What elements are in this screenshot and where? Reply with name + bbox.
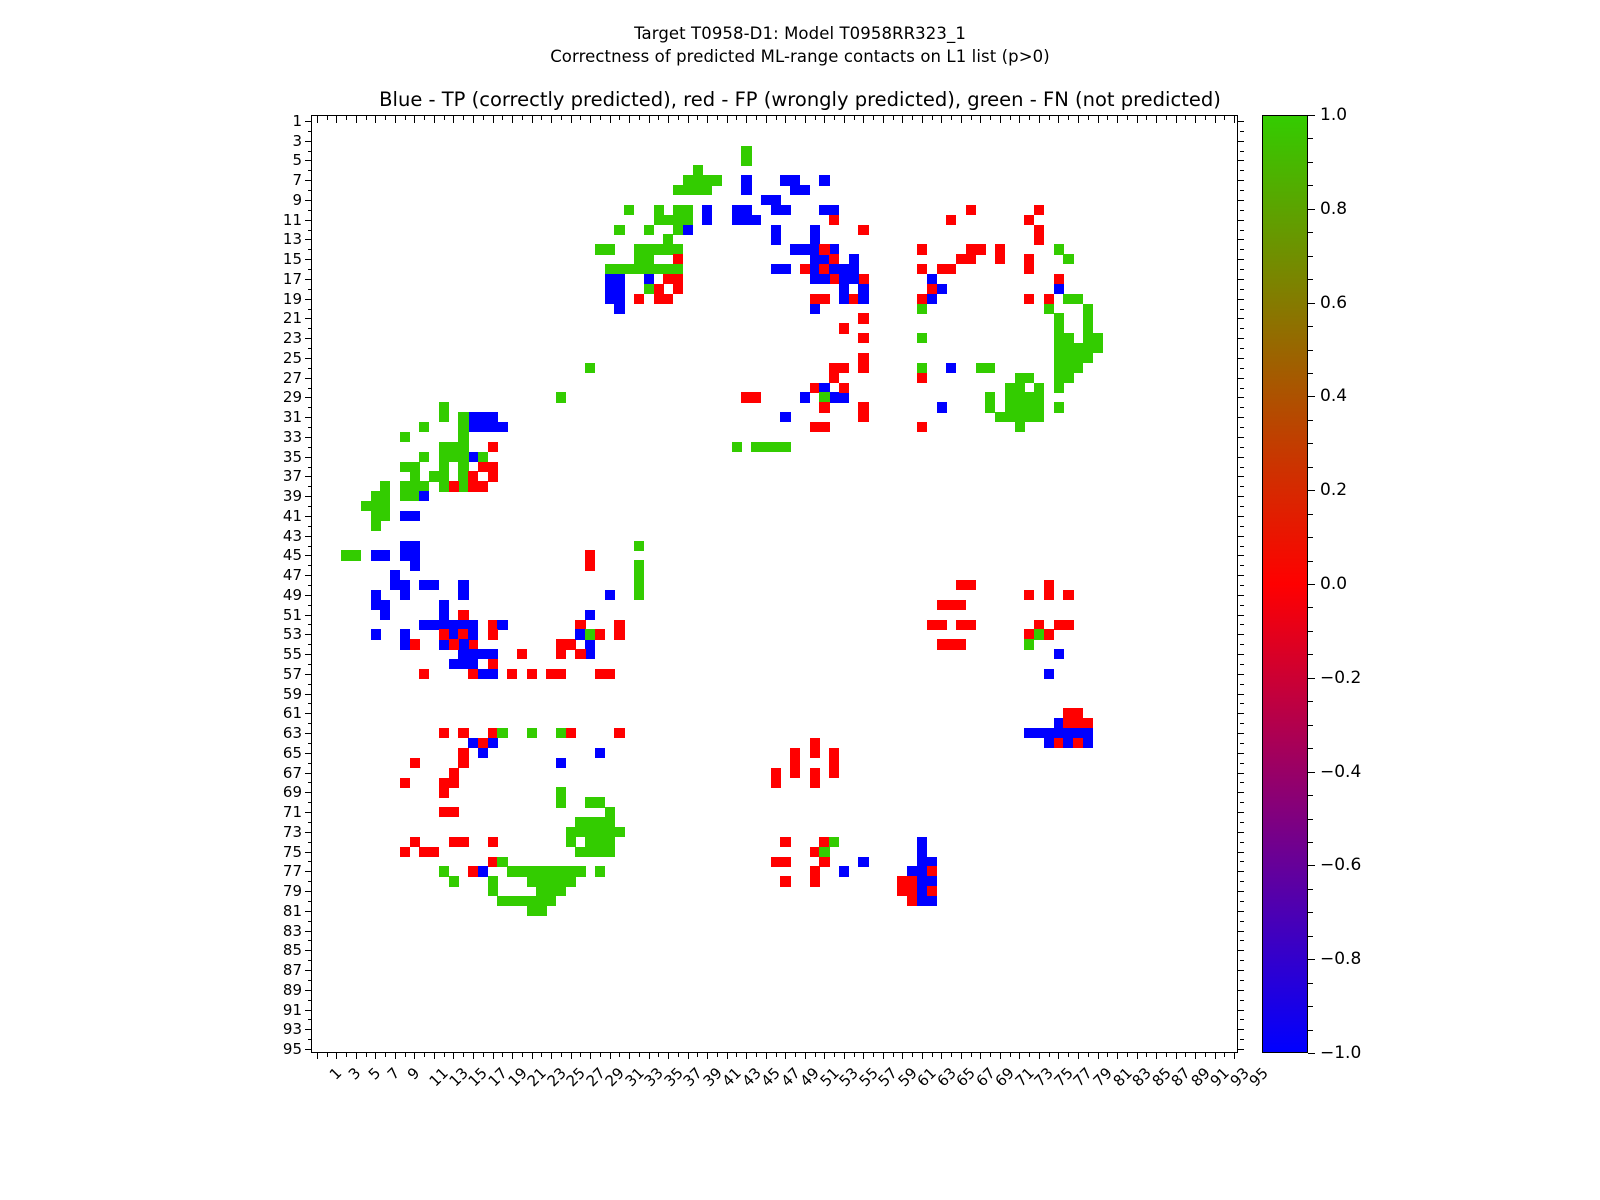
colorbar-tick <box>1308 584 1315 585</box>
contact-cell <box>400 550 410 560</box>
x-axis-tick-top <box>932 116 933 121</box>
contact-cell <box>527 876 537 886</box>
contact-cell <box>673 284 683 294</box>
contact-cell <box>488 738 498 748</box>
contact-cell <box>819 264 829 274</box>
x-axis-tick <box>844 1052 845 1059</box>
contact-cell <box>839 294 849 304</box>
y-axis-tick <box>308 782 313 783</box>
contact-cell <box>917 264 927 274</box>
contact-cell <box>1054 738 1064 748</box>
x-axis-tick-top <box>619 116 620 121</box>
contact-cell <box>927 896 937 906</box>
colorbar-tick <box>1308 959 1315 960</box>
colorbar-tick <box>1308 842 1313 843</box>
contact-cell <box>536 886 546 896</box>
contact-cell <box>800 392 810 402</box>
contact-cell <box>1024 264 1034 274</box>
x-axis-tick-top <box>678 116 679 121</box>
contact-cell <box>478 462 488 472</box>
contact-cell <box>458 452 468 462</box>
contact-cell <box>634 294 644 304</box>
contact-cell <box>819 857 829 867</box>
contact-cell <box>556 758 566 768</box>
contact-cell <box>810 383 820 393</box>
x-axis-tick <box>1107 1052 1108 1057</box>
y-axis-tick <box>305 674 312 675</box>
y-axis-tick <box>308 743 313 744</box>
contact-cell <box>673 274 683 284</box>
contact-cell <box>351 550 361 560</box>
y-axis-tick-right <box>1237 891 1244 892</box>
contact-cell <box>449 807 459 817</box>
contact-cell <box>956 620 966 630</box>
contact-cell <box>566 728 576 738</box>
x-axis-tick-top <box>1039 116 1040 123</box>
contact-cell <box>400 778 410 788</box>
contact-cell <box>527 906 537 916</box>
y-axis-tick <box>305 457 312 458</box>
contact-cell <box>771 778 781 788</box>
contact-cell <box>702 175 712 185</box>
y-axis-tick <box>305 753 312 754</box>
x-axis-tick <box>1156 1052 1157 1059</box>
contact-cell <box>556 866 566 876</box>
colorbar-tick <box>1308 631 1313 632</box>
x-axis-tick-top <box>902 116 903 123</box>
y-axis-tick <box>305 180 312 181</box>
y-axis-tick-right <box>1237 990 1244 991</box>
contact-cell <box>1054 353 1064 363</box>
contact-cell <box>468 629 478 639</box>
contact-cell <box>917 847 927 857</box>
colorbar-tick <box>1308 303 1315 304</box>
y-axis-label: 49 <box>283 586 302 604</box>
contact-cell <box>985 392 995 402</box>
colorbar-tick <box>1308 256 1313 257</box>
contact-cell <box>946 600 956 610</box>
x-axis-tick <box>551 1052 552 1059</box>
y-axis-tick <box>308 842 313 843</box>
contact-cell <box>1054 649 1064 659</box>
y-axis-tick-right <box>1240 1000 1245 1001</box>
contact-cell <box>966 205 976 215</box>
x-axis-tick <box>571 1052 572 1059</box>
y-axis-label: 45 <box>283 546 302 564</box>
contact-cell <box>917 837 927 847</box>
y-axis-tick <box>305 279 312 280</box>
contact-cell <box>605 244 615 254</box>
contact-cell <box>488 857 498 867</box>
contact-cell <box>917 244 927 254</box>
contact-cell <box>380 600 390 610</box>
contact-cell <box>371 600 381 610</box>
y-axis-tick-right <box>1237 733 1244 734</box>
contact-cell <box>458 728 468 738</box>
contact-cell <box>585 629 595 639</box>
contact-cell <box>927 274 937 284</box>
contact-cell <box>449 876 459 886</box>
x-axis-tick-top <box>336 116 337 123</box>
contact-cell <box>937 402 947 412</box>
y-axis-label: 87 <box>283 961 302 979</box>
contact-cell <box>927 284 937 294</box>
x-axis-tick-top <box>1088 116 1089 121</box>
contact-cell <box>488 620 498 630</box>
contact-cell <box>1054 620 1064 630</box>
contact-cell <box>439 866 449 876</box>
y-axis-tick-right <box>1237 1029 1244 1030</box>
x-axis-tick-top <box>795 116 796 121</box>
contact-cell <box>663 244 673 254</box>
y-axis-tick-right <box>1240 565 1245 566</box>
y-axis-tick <box>308 190 313 191</box>
contact-cell <box>917 422 927 432</box>
x-axis-tick-top <box>1068 116 1069 121</box>
contact-cell <box>780 442 790 452</box>
contact-cell <box>439 452 449 462</box>
contact-cell <box>1024 728 1034 738</box>
contact-map-cells <box>312 116 1237 1052</box>
contact-cell <box>634 580 644 590</box>
y-axis-tick <box>308 1039 313 1040</box>
x-axis-tick <box>590 1052 591 1059</box>
contact-cell <box>458 580 468 590</box>
contact-cell <box>1054 244 1064 254</box>
y-axis-tick <box>308 151 313 152</box>
y-axis-tick-right <box>1240 249 1245 250</box>
contact-cell <box>1073 363 1083 373</box>
contact-cell <box>468 422 478 432</box>
contact-cell <box>917 876 927 886</box>
contact-cell <box>439 787 449 797</box>
contact-cell <box>1063 620 1073 630</box>
y-axis-tick-right <box>1240 921 1245 922</box>
x-axis-tick <box>688 1052 689 1059</box>
x-axis-tick <box>736 1052 737 1057</box>
x-axis-tick <box>336 1052 337 1059</box>
contact-cell <box>946 264 956 274</box>
x-axis-tick-top <box>453 116 454 123</box>
contact-cell <box>1034 392 1044 402</box>
x-axis-tick-top <box>873 116 874 121</box>
x-axis-tick <box>815 1052 816 1057</box>
contact-cell <box>732 215 742 225</box>
contact-cell <box>1044 738 1054 748</box>
contact-cell <box>1034 402 1044 412</box>
x-axis-tick-top <box>512 116 513 123</box>
x-axis-tick <box>951 1052 952 1057</box>
contact-cell <box>1063 333 1073 343</box>
y-axis-tick-right <box>1240 644 1245 645</box>
contact-cell <box>937 284 947 294</box>
x-axis-tick-top <box>434 116 435 123</box>
contact-cell <box>546 886 556 896</box>
y-axis-tick-right <box>1240 368 1245 369</box>
y-axis-tick <box>305 852 312 853</box>
contact-cell <box>439 778 449 788</box>
contact-cell <box>1063 294 1073 304</box>
y-axis-tick-right <box>1240 861 1245 862</box>
contact-cell <box>634 560 644 570</box>
x-axis-label: 5 <box>365 1064 384 1083</box>
contact-cell <box>634 590 644 600</box>
contact-cell <box>556 876 566 886</box>
contact-cell <box>361 501 371 511</box>
contact-cell <box>400 481 410 491</box>
contact-cell <box>566 837 576 847</box>
x-axis-tick <box>883 1052 884 1059</box>
y-axis-tick-right <box>1237 259 1244 260</box>
contact-cell <box>829 363 839 373</box>
contact-cell <box>800 264 810 274</box>
x-axis-tick <box>854 1052 855 1057</box>
contact-cell <box>1073 353 1083 363</box>
contact-cell <box>644 225 654 235</box>
y-axis-tick <box>305 990 312 991</box>
contact-cell <box>810 422 820 432</box>
colorbar-tick <box>1308 912 1313 913</box>
contact-cell <box>634 541 644 551</box>
x-axis-label: 9 <box>404 1064 423 1083</box>
colorbar-tick <box>1308 748 1313 749</box>
y-axis-tick-right <box>1240 407 1245 408</box>
contact-cell <box>937 620 947 630</box>
y-axis-tick <box>305 239 312 240</box>
contact-cell <box>595 244 605 254</box>
y-axis-tick <box>305 318 312 319</box>
y-axis-label: 95 <box>283 1040 302 1058</box>
contact-cell <box>819 847 829 857</box>
contact-cell <box>380 501 390 511</box>
y-axis-tick <box>305 792 312 793</box>
y-axis-tick <box>305 299 312 300</box>
y-axis-tick <box>308 526 313 527</box>
y-axis-tick <box>308 447 313 448</box>
contact-cell <box>858 363 868 373</box>
y-axis-label: 73 <box>283 823 302 841</box>
contact-cell <box>819 274 829 284</box>
y-axis-tick-right <box>1237 595 1244 596</box>
contact-cell <box>683 175 693 185</box>
y-axis-tick-right <box>1240 960 1245 961</box>
x-axis-tick <box>619 1052 620 1057</box>
contact-cell <box>419 452 429 462</box>
contact-cell <box>458 412 468 422</box>
x-axis-tick-top <box>463 116 464 121</box>
colorbar-tick <box>1308 396 1315 397</box>
contact-cell <box>839 363 849 373</box>
y-axis-tick <box>308 684 313 685</box>
contact-cell <box>419 491 429 501</box>
contact-cell <box>1034 620 1044 630</box>
contact-cell <box>419 620 429 630</box>
x-axis-tick <box>1039 1052 1040 1059</box>
y-axis-tick <box>305 555 312 556</box>
colorbar-tick <box>1308 326 1313 327</box>
contact-cell <box>946 215 956 225</box>
y-axis-tick <box>308 940 313 941</box>
contact-cell <box>1054 373 1064 383</box>
contact-cell <box>907 886 917 896</box>
y-axis-tick-right <box>1237 931 1244 932</box>
x-axis-tick-top <box>912 116 913 121</box>
y-axis-tick-right <box>1240 763 1245 764</box>
colorbar-tick <box>1308 443 1313 444</box>
contact-cell <box>400 462 410 472</box>
contact-cell <box>1024 412 1034 422</box>
contact-cell <box>790 244 800 254</box>
y-axis-tick-right <box>1237 141 1244 142</box>
x-axis-tick-top <box>483 116 484 121</box>
contact-cell <box>478 422 488 432</box>
contact-cell <box>458 462 468 472</box>
contact-cell <box>488 669 498 679</box>
x-axis-tick-top <box>727 116 728 123</box>
contact-cell <box>546 896 556 906</box>
contact-cell <box>1063 590 1073 600</box>
y-axis-tick <box>308 388 313 389</box>
x-axis-tick-top <box>629 116 630 123</box>
colorbar-tick <box>1308 678 1315 679</box>
x-axis-tick <box>522 1052 523 1057</box>
contact-cell <box>605 837 615 847</box>
contact-cell <box>1044 629 1054 639</box>
y-axis-tick <box>305 496 312 497</box>
x-axis-tick-top <box>541 116 542 121</box>
contact-cell <box>1024 629 1034 639</box>
colorbar-tick <box>1308 209 1315 210</box>
y-axis-tick-right <box>1240 309 1245 310</box>
colorbar-label: 0.4 <box>1320 386 1347 406</box>
contact-cell <box>527 728 537 738</box>
y-axis-tick <box>308 565 313 566</box>
contact-cell <box>1015 402 1025 412</box>
x-axis-tick-top <box>1127 116 1128 121</box>
contact-cell <box>829 244 839 254</box>
contact-cell <box>927 620 937 630</box>
y-axis-tick <box>305 931 312 932</box>
x-axis-tick <box>405 1052 406 1057</box>
contact-cell <box>985 402 995 412</box>
y-axis-label: 27 <box>283 369 302 387</box>
x-axis-tick <box>1137 1052 1138 1059</box>
y-axis-tick <box>305 694 312 695</box>
contact-cell <box>614 294 624 304</box>
contact-cell <box>810 234 820 244</box>
contact-cell <box>1034 412 1044 422</box>
contact-cell <box>458 629 468 639</box>
y-axis-tick <box>305 950 312 951</box>
contact-cell <box>819 175 829 185</box>
colorbar-tick <box>1308 185 1313 186</box>
contact-cell <box>468 481 478 491</box>
contact-cell <box>995 244 1005 254</box>
y-axis-tick-right <box>1240 388 1245 389</box>
contact-cell <box>605 847 615 857</box>
contact-cell <box>468 452 478 462</box>
x-axis-tick-top <box>424 116 425 121</box>
y-axis-tick-right <box>1237 753 1244 754</box>
y-axis-tick-right <box>1237 654 1244 655</box>
y-axis-tick <box>308 407 313 408</box>
colorbar-tick <box>1308 654 1313 655</box>
y-axis-tick <box>308 901 313 902</box>
contact-cell <box>468 649 478 659</box>
contact-cell <box>1063 728 1073 738</box>
contact-cell <box>741 146 751 156</box>
contact-cell <box>429 620 439 630</box>
contact-cell <box>371 629 381 639</box>
contact-cell <box>585 847 595 857</box>
contact-cell <box>605 817 615 827</box>
colorbar-tick <box>1308 373 1313 374</box>
colorbar-label: 0.2 <box>1320 480 1347 500</box>
contact-cell <box>1093 343 1103 353</box>
contact-cell <box>400 432 410 442</box>
colorbar-tick <box>1308 1006 1313 1007</box>
contact-cell <box>478 649 488 659</box>
y-axis-label: 17 <box>283 270 302 288</box>
contact-cell <box>575 817 585 827</box>
contact-cell <box>1024 215 1034 225</box>
contact-cell <box>780 876 790 886</box>
colorbar-tick <box>1308 819 1313 820</box>
contact-cell <box>1083 728 1093 738</box>
contact-cell <box>575 827 585 837</box>
contact-cell <box>1024 639 1034 649</box>
y-axis-tick-right <box>1240 467 1245 468</box>
colorbar-label: −0.2 <box>1320 668 1361 688</box>
contact-cell <box>556 787 566 797</box>
x-axis-tick <box>707 1052 708 1059</box>
contact-cell <box>575 866 585 876</box>
contact-cell <box>780 837 790 847</box>
y-axis-tick-right <box>1237 358 1244 359</box>
contact-cell <box>575 649 585 659</box>
contact-cell <box>614 304 624 314</box>
contact-cell <box>1024 392 1034 402</box>
x-axis-tick <box>658 1052 659 1057</box>
x-axis-tick-top <box>561 116 562 121</box>
contact-cell <box>429 471 439 481</box>
y-axis-tick <box>308 624 313 625</box>
contact-cell <box>400 580 410 590</box>
contact-cell <box>819 837 829 847</box>
contact-cell <box>449 629 459 639</box>
contact-cell <box>556 392 566 402</box>
contact-cell <box>644 244 654 254</box>
contact-cell <box>605 274 615 284</box>
contact-cell <box>829 748 839 758</box>
contact-cell <box>546 876 556 886</box>
y-axis-tick-right <box>1237 476 1244 477</box>
contact-cell <box>927 876 937 886</box>
contact-cell <box>1083 718 1093 728</box>
colorbar-tick <box>1308 514 1313 515</box>
y-axis-tick-right <box>1240 802 1245 803</box>
colorbar-tick <box>1308 561 1313 562</box>
x-axis-tick <box>414 1052 415 1059</box>
contact-cell <box>644 264 654 274</box>
y-axis-tick-right <box>1240 782 1245 783</box>
contact-cell <box>732 442 742 452</box>
contact-cell <box>585 837 595 847</box>
x-axis-label: 1 <box>326 1064 345 1083</box>
y-axis-tick <box>305 1010 312 1011</box>
y-axis-tick-right <box>1240 723 1245 724</box>
contact-cell <box>800 244 810 254</box>
